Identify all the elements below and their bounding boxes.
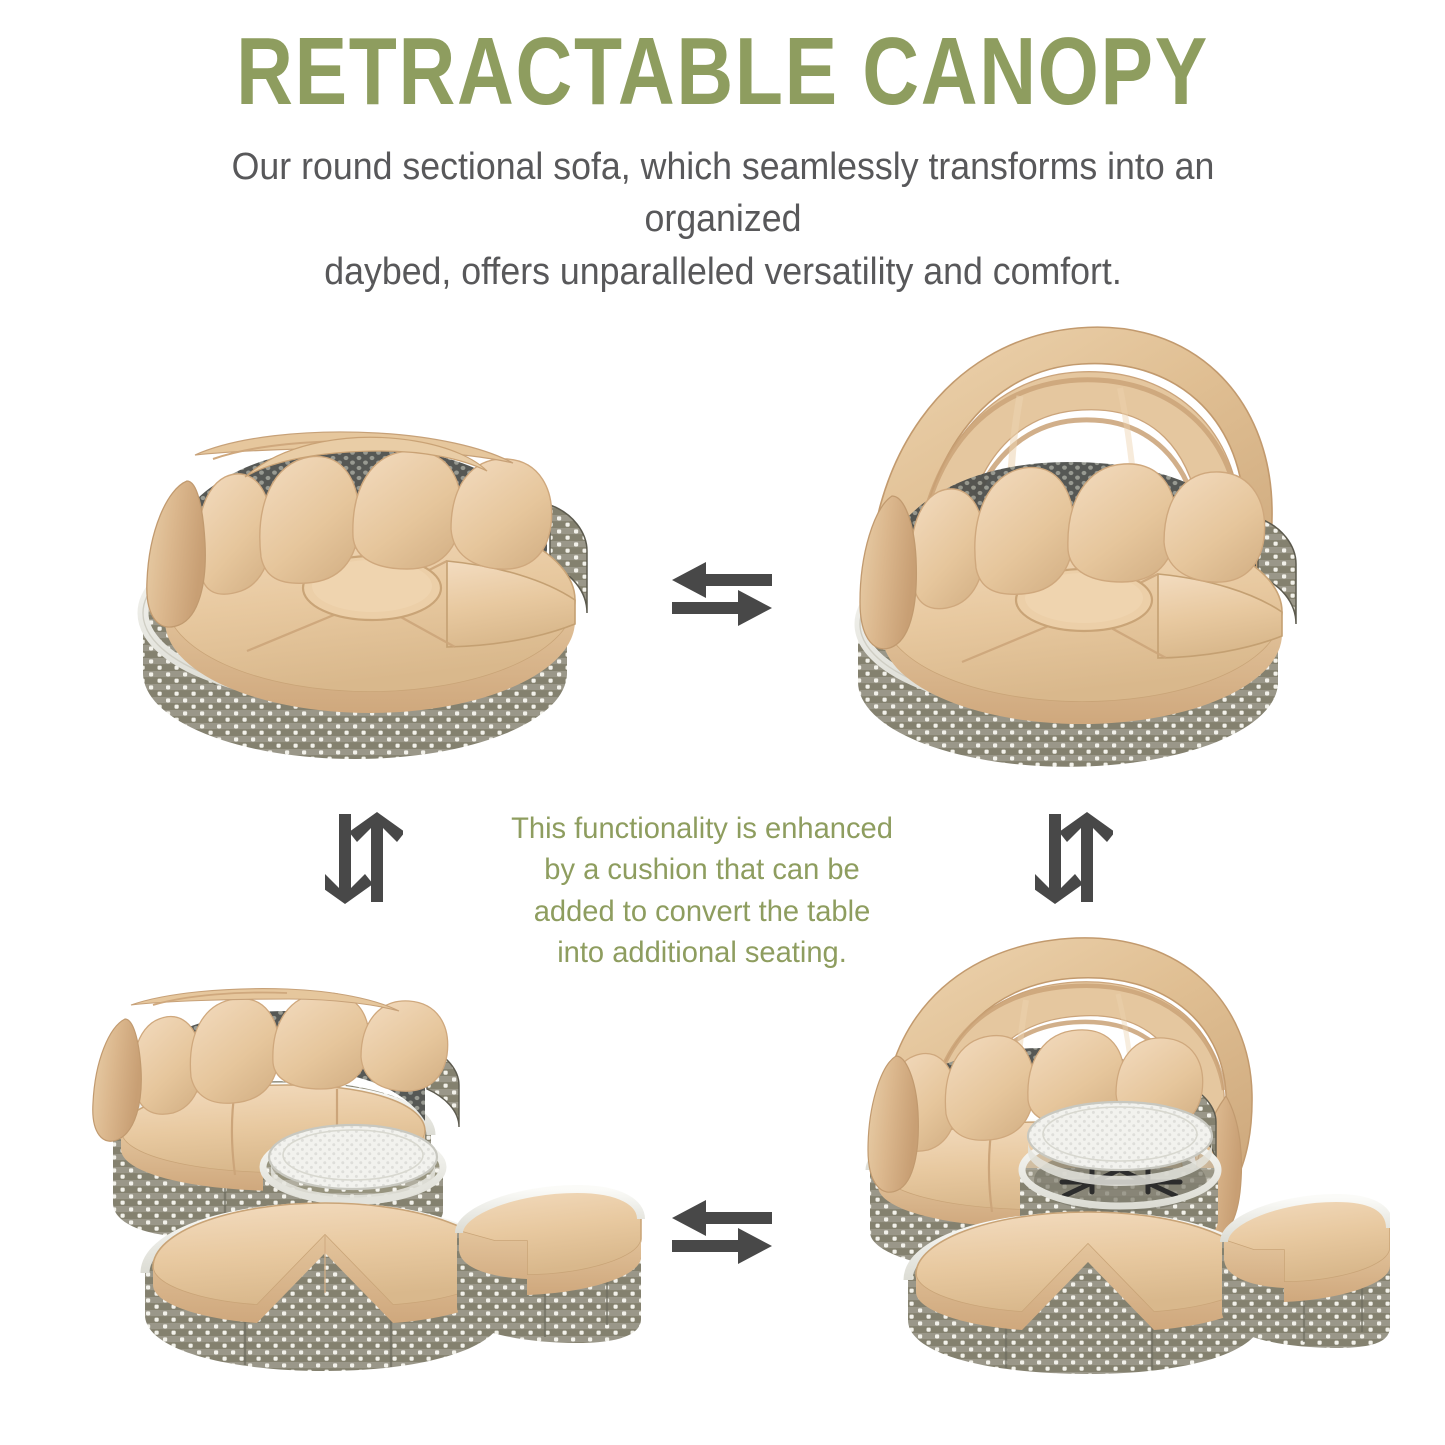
center-note-line-2: by a cushion that can be [498,849,905,890]
figure-daybed-canopy-extended [820,300,1320,775]
arrow-bottom-horizontal [666,1194,778,1266]
center-note-line-4: into additional seating. [498,932,905,973]
figure-sectional-separated-canopy-extended [830,930,1390,1375]
page-title: RETRACTABLE CANOPY [130,0,1315,123]
right-ottoman [1222,1196,1390,1348]
subtitle-line-1: Our round sectional sofa, which seamless… [177,141,1267,246]
center-note-line-1: This functionality is enhanced [498,808,905,849]
exchange-vertical-icon [325,810,403,906]
center-note-line-3: added to convert the table [498,891,905,932]
exchange-vertical-icon [1035,810,1113,906]
figure-daybed-canopy-retracted [95,385,625,780]
infographic-page: RETRACTABLE CANOPY Our round sectional s… [0,0,1445,1445]
arrow-left-vertical [325,810,403,906]
front-ottoman [145,1203,503,1371]
header: RETRACTABLE CANOPY Our round sectional s… [0,0,1445,298]
arrow-right-vertical [1035,810,1113,906]
arrow-top-horizontal [666,556,778,628]
subtitle-line-2: daybed, offers unparalleled versatility … [177,246,1267,298]
front-ottoman [908,1212,1262,1374]
figure-sectional-separated-canopy-retracted [75,985,645,1375]
right-ottoman [457,1187,641,1343]
page-subtitle: Our round sectional sofa, which seamless… [177,141,1267,298]
center-note: This functionality is enhanced by a cush… [498,808,905,974]
exchange-horizontal-icon [666,556,778,628]
exchange-horizontal-icon [666,1194,778,1266]
